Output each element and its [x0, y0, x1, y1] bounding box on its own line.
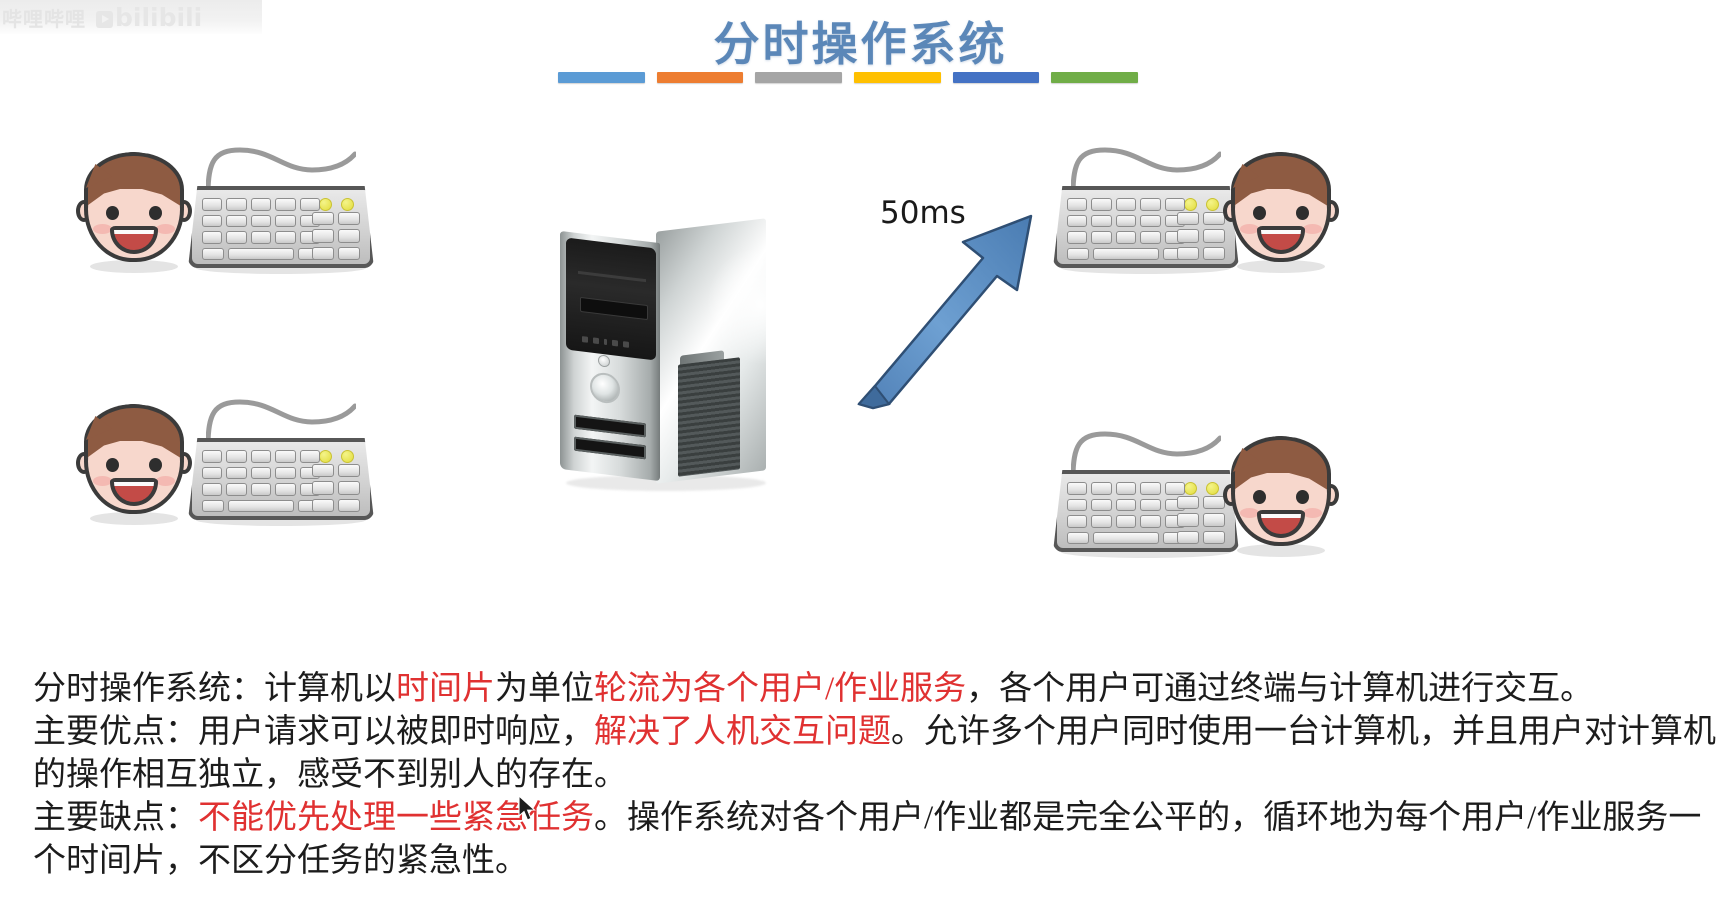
cheek-right — [1303, 224, 1322, 234]
text-run-highlight: 时间片 — [396, 671, 495, 707]
tower-side-vent — [678, 357, 740, 477]
user-face-icon — [78, 150, 190, 272]
keyboard-main-keys — [202, 198, 320, 260]
eye-left — [106, 206, 119, 220]
eye-right — [1296, 206, 1309, 220]
body-paragraphs: 分时操作系统：计算机以时间片为单位轮流为各个用户/作业服务，各个用户可通过终端与… — [33, 668, 1721, 883]
eye-left — [1253, 490, 1266, 504]
keyboard-led-1 — [319, 450, 332, 463]
keyboard-led-2 — [1206, 198, 1219, 211]
text-run-highlight: 轮流为各个用户/作业服务 — [594, 671, 966, 707]
user-bottom-right — [1053, 428, 1353, 588]
page-title: 分时操作系统 — [0, 8, 1721, 74]
keyboard-main-keys — [1067, 198, 1185, 260]
line-advantage: 主要优点：用户请求可以被即时响应，解决了人机交互问题。允许多个用户同时使用一台计… — [33, 711, 1721, 797]
eye-right — [1296, 490, 1309, 504]
cheek-right — [156, 224, 175, 234]
computer-tower-icon — [556, 215, 796, 490]
rule-segment-5 — [953, 72, 1040, 83]
rule-segment-2 — [657, 72, 744, 83]
rule-segment-6 — [1051, 72, 1138, 83]
eye-left — [106, 458, 119, 472]
rule-segment-3 — [755, 72, 842, 83]
keyboard-icon — [1053, 144, 1239, 276]
keyboard-main-keys — [202, 450, 320, 512]
line-definition: 分时操作系统：计算机以时间片为单位轮流为各个用户/作业服务，各个用户可通过终端与… — [33, 668, 1721, 711]
user-face-icon — [1225, 434, 1337, 556]
diagram-stage: 50ms — [0, 100, 1721, 620]
keyboard-led-2 — [341, 198, 354, 211]
user-face-icon — [78, 402, 190, 524]
keyboard-icon — [188, 396, 374, 528]
keyboard-led-1 — [1184, 198, 1197, 211]
cheek-right — [1303, 508, 1322, 518]
keyboard-led-1 — [1184, 482, 1197, 495]
text-run: 分时操作系统：计算机以 — [33, 671, 396, 707]
eye-right — [149, 206, 162, 220]
slide-canvas: 哔哩哔哩 bilibili 分时操作系统 — [0, 0, 1721, 916]
cheek-right — [156, 476, 175, 486]
text-run: 主要优点：用户请求可以被即时响应， — [33, 714, 594, 750]
text-run: ，各个用户可通过终端与计算机进行交互。 — [966, 671, 1593, 707]
keyboard-numpad-keys — [1177, 212, 1225, 260]
eye-right — [149, 458, 162, 472]
keyboard-numpad-keys — [1177, 496, 1225, 544]
user-face-icon — [1225, 150, 1337, 272]
rule-segment-1 — [558, 72, 645, 83]
keyboard-led-1 — [319, 198, 332, 211]
text-run: 为单位 — [495, 671, 594, 707]
keyboard-numpad-keys — [312, 464, 360, 512]
user-top-right — [1053, 144, 1353, 304]
user-top-left — [78, 144, 378, 304]
text-run: 主要缺点： — [33, 800, 198, 836]
keyboard-icon — [188, 144, 374, 276]
keyboard-led-2 — [1206, 482, 1219, 495]
mouse-cursor-icon — [518, 795, 538, 823]
title-color-rule — [558, 72, 1138, 83]
keyboard-numpad-keys — [312, 212, 360, 260]
latency-label: 50ms — [880, 195, 966, 231]
text-run-highlight: 解决了人机交互问题 — [594, 714, 891, 750]
line-disadvantage: 主要缺点：不能优先处理一些紧急任务。操作系统对各个用户/作业都是完全公平的，循环… — [33, 797, 1721, 883]
keyboard-main-keys — [1067, 482, 1185, 544]
keyboard-led-2 — [341, 450, 354, 463]
rule-segment-4 — [854, 72, 941, 83]
eye-left — [1253, 206, 1266, 220]
user-bottom-left — [78, 396, 378, 556]
keyboard-icon — [1053, 428, 1239, 560]
